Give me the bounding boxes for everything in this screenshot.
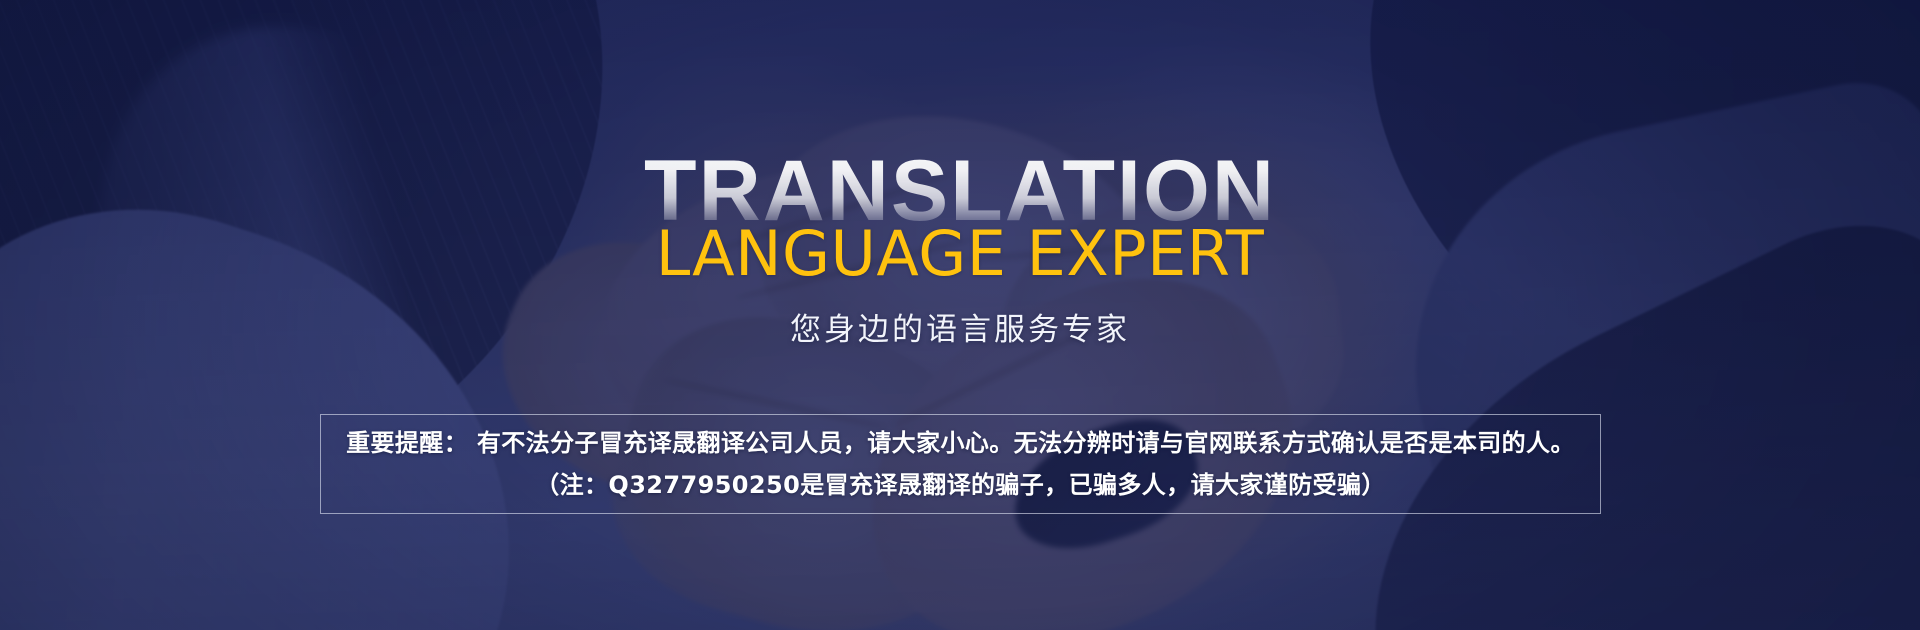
- notice-line-1: 重要提醒： 有不法分子冒充译晟翻译公司人员，请大家小心。无法分辨时请与官网联系方…: [346, 424, 1575, 462]
- notice-line-2: （注：Q3277950250是冒充译晟翻译的骗子，已骗多人，请大家谨防受骗）: [535, 466, 1386, 504]
- hero-banner: TRANSLATION LANGUAGE EXPERT 您身边的语言服务专家 重…: [0, 0, 1920, 630]
- important-notice-box: 重要提醒： 有不法分子冒充译晟翻译公司人员，请大家小心。无法分辨时请与官网联系方…: [320, 414, 1601, 514]
- headline-wrapper: TRANSLATION: [0, 148, 1920, 234]
- page-title: TRANSLATION: [644, 148, 1276, 234]
- tagline-chinese: 您身边的语言服务专家: [790, 304, 1130, 349]
- banner-content: TRANSLATION LANGUAGE EXPERT 您身边的语言服务专家: [0, 0, 1920, 630]
